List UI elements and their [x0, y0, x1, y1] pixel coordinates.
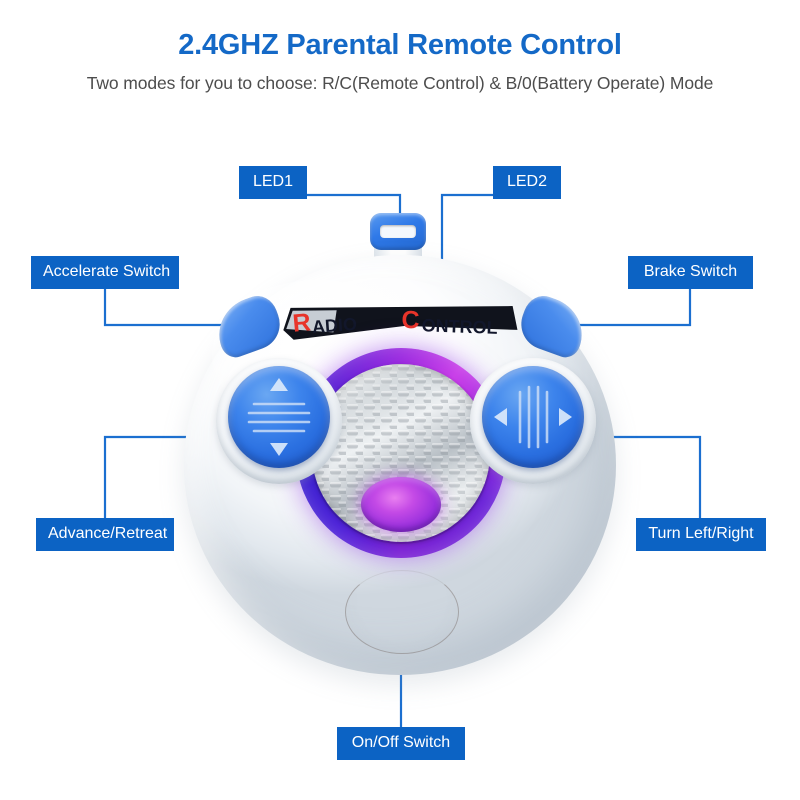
leader-line-led1: [307, 195, 400, 374]
leader-dot-led1: [396, 370, 405, 379]
lanyard-slot: [380, 225, 416, 238]
metal-dimple-texture: [312, 364, 490, 542]
device-body: [184, 255, 616, 675]
led-ring: [296, 348, 506, 558]
metal-gloss-highlight: [312, 364, 490, 542]
radio-control-logo: R ADIO C ONTROL: [276, 292, 523, 347]
advance-retreat-arrows-icon: [228, 366, 330, 468]
led-ring-shadow: [310, 362, 492, 544]
callout-badge-turn-left-right[interactable]: Turn Left/Right: [636, 518, 766, 551]
advance-retreat-joystick[interactable]: [228, 366, 330, 468]
joystick-right-base: [470, 358, 596, 484]
page-subtitle: Two modes for you to choose: R/C(Remote …: [0, 62, 800, 94]
leader-line-advance: [105, 437, 279, 518]
metallic-speaker-disc: [312, 364, 490, 542]
logo-word-adio: ADIO: [311, 314, 357, 337]
leader-line-turn: [533, 437, 700, 518]
leader-line-accelerate: [105, 284, 245, 325]
turn-left-right-arrows-icon: [482, 366, 584, 468]
callout-leader-lines: [0, 0, 800, 800]
callout-badge-led1[interactable]: LED1: [239, 166, 307, 199]
leader-dot-onoff: [397, 621, 406, 630]
leader-line-brake: [557, 284, 690, 325]
callout-badge-advance-retreat[interactable]: Advance/Retreat: [36, 518, 174, 551]
logo-word-ontrol: ONTROL: [421, 315, 498, 338]
turn-left-right-joystick[interactable]: [482, 366, 584, 468]
center-light-lens: [361, 477, 441, 532]
lanyard-loop-icon: [370, 213, 426, 250]
callout-badge-led2[interactable]: LED2: [493, 166, 561, 199]
lanyard-neck: [374, 243, 422, 273]
leader-dot-advance: [275, 433, 284, 442]
leader-dot-accelerate: [241, 321, 250, 330]
callout-badge-on-off-switch[interactable]: On/Off Switch: [337, 727, 465, 760]
remote-control-device: R ADIO C ONTROL: [0, 0, 800, 800]
leader-dot-brake: [553, 321, 562, 330]
callout-badge-accelerate-switch[interactable]: Accelerate Switch: [31, 256, 179, 289]
header: 2.4GHZ Parental Remote Control Two modes…: [0, 0, 800, 94]
logo-letter-c: C: [401, 306, 420, 334]
callout-badge-brake-switch[interactable]: Brake Switch: [628, 256, 753, 289]
leader-dot-led2: [438, 370, 447, 379]
on-off-switch[interactable]: [345, 570, 459, 654]
logo-letter-r: R: [291, 308, 311, 337]
leader-dot-turn: [529, 433, 538, 442]
leader-line-led2: [442, 195, 493, 374]
device-body-highlight: [212, 280, 422, 430]
joystick-left-base: [216, 358, 342, 484]
page-title: 2.4GHZ Parental Remote Control: [0, 0, 800, 62]
